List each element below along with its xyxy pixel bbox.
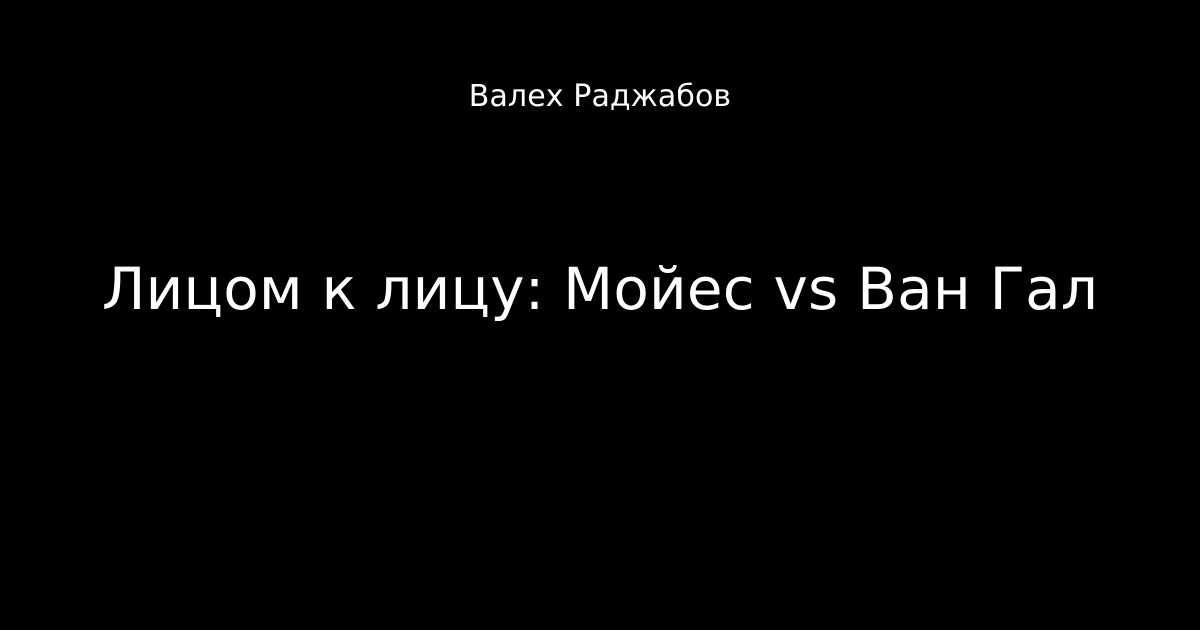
social-share-card: Валех Раджабов Лицом к лицу: Мойес vs Ва… [0,0,1200,630]
author-byline: Валех Раджабов [0,78,1200,116]
page-title: Лицом к лицу: Мойес vs Ван Гал [102,252,1098,326]
headline-container: Лицом к лицу: Мойес vs Ван Гал [0,252,1200,326]
